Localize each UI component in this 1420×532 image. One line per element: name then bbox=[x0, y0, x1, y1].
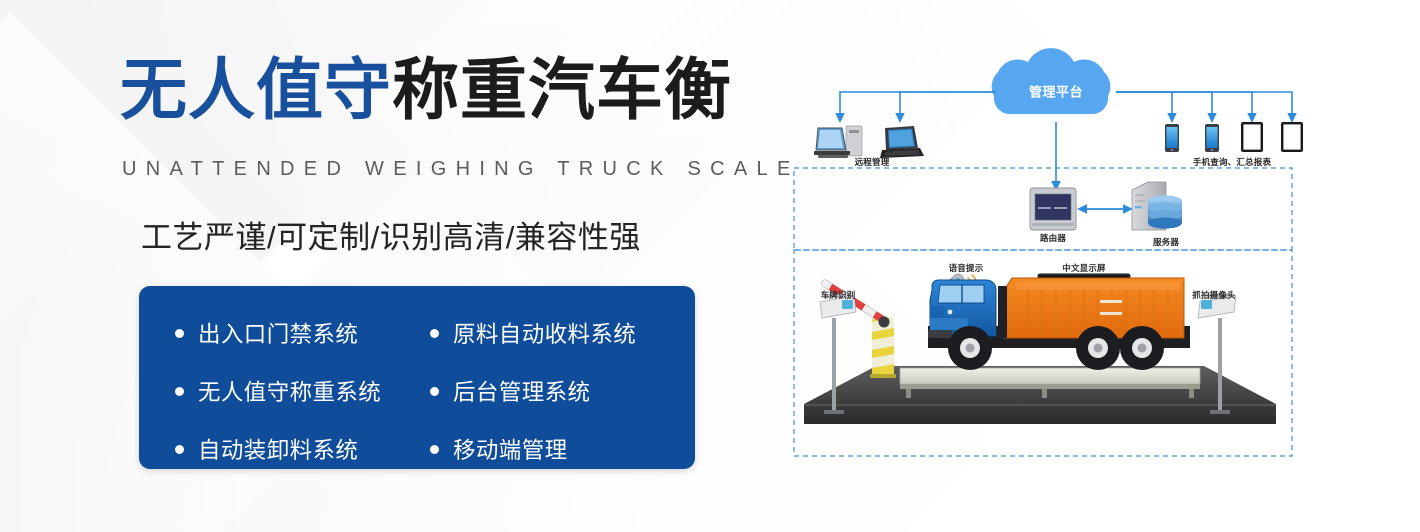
page-title: 无人值守 称重汽车衡 bbox=[120, 57, 732, 124]
bullet-icon bbox=[430, 329, 439, 338]
label-plate-recognition: 车牌识别 bbox=[821, 289, 856, 301]
banner-root: 无人值守 称重汽车衡 UNATTENDED WEIGHING TRUCK SCA… bbox=[0, 0, 1420, 532]
dump-truck-illustration bbox=[928, 278, 1190, 370]
label-remote-management: 远程管理 bbox=[855, 156, 890, 168]
tablet-icon-1 bbox=[1241, 122, 1263, 152]
tablet-icon-2 bbox=[1281, 122, 1303, 152]
title-rest: 称重汽车衡 bbox=[392, 57, 732, 124]
bullet-icon bbox=[175, 445, 184, 454]
feature-tagline: 工艺严谨/可定制/识别高清/兼容性强 bbox=[141, 212, 641, 257]
server-icon bbox=[1132, 182, 1182, 230]
label-server: 服务器 bbox=[1153, 236, 1179, 248]
feature-item-0[interactable]: 出入口门禁系统 bbox=[175, 317, 430, 349]
feature-label: 后台管理系统 bbox=[453, 375, 590, 407]
desktop-computer-icon bbox=[814, 126, 862, 158]
label-voice-prompt: 语音提示 bbox=[949, 262, 984, 274]
bullet-icon bbox=[175, 387, 184, 396]
label-router: 路由器 bbox=[1040, 232, 1066, 244]
bullet-icon bbox=[430, 387, 439, 396]
label-chinese-display: 中文显示屏 bbox=[1062, 262, 1106, 274]
title-highlight: 无人值守 bbox=[120, 57, 392, 124]
feature-label: 原料自动收料系统 bbox=[453, 317, 636, 349]
feature-label: 自动装卸料系统 bbox=[198, 433, 358, 465]
label-mobile-query: 手机查询、汇总报表 bbox=[1193, 156, 1271, 168]
title-subtitle-english: UNATTENDED WEIGHING TRUCK SCALE bbox=[122, 158, 800, 181]
feature-item-2[interactable]: 无人值守称重系统 bbox=[175, 375, 430, 407]
laptop-icon bbox=[880, 126, 924, 158]
feature-list-box: 出入口门禁系统 原料自动收料系统 无人值守称重系统 后台管理系统 自动装卸料系统 bbox=[139, 286, 695, 469]
database-cylinder bbox=[1148, 195, 1182, 228]
headline-pane: 无人值守 称重汽车衡 UNATTENDED WEIGHING TRUCK SCA… bbox=[0, 0, 760, 532]
label-capture-camera: 抓拍摄像头 bbox=[1192, 289, 1236, 301]
bullet-icon bbox=[175, 329, 184, 338]
system-architecture-diagram: 车号 鲁A12345 毛重 56.80 皮重 24.60 净重 32.20 bbox=[780, 0, 1420, 532]
feature-item-3[interactable]: 后台管理系统 bbox=[430, 375, 695, 407]
bullet-icon bbox=[430, 445, 439, 454]
feature-item-5[interactable]: 移动端管理 bbox=[430, 433, 695, 465]
feature-item-4[interactable]: 自动装卸料系统 bbox=[175, 433, 430, 465]
cloud-label: 管理平台 bbox=[1029, 82, 1083, 101]
feature-label: 无人值守称重系统 bbox=[198, 375, 381, 407]
smartphone-icon-1 bbox=[1165, 124, 1179, 152]
router-icon bbox=[1030, 188, 1076, 230]
feature-item-1[interactable]: 原料自动收料系统 bbox=[430, 317, 695, 349]
smartphone-icon-2 bbox=[1205, 124, 1219, 152]
feature-label: 移动端管理 bbox=[453, 433, 568, 465]
feature-label: 出入口门禁系统 bbox=[198, 317, 358, 349]
